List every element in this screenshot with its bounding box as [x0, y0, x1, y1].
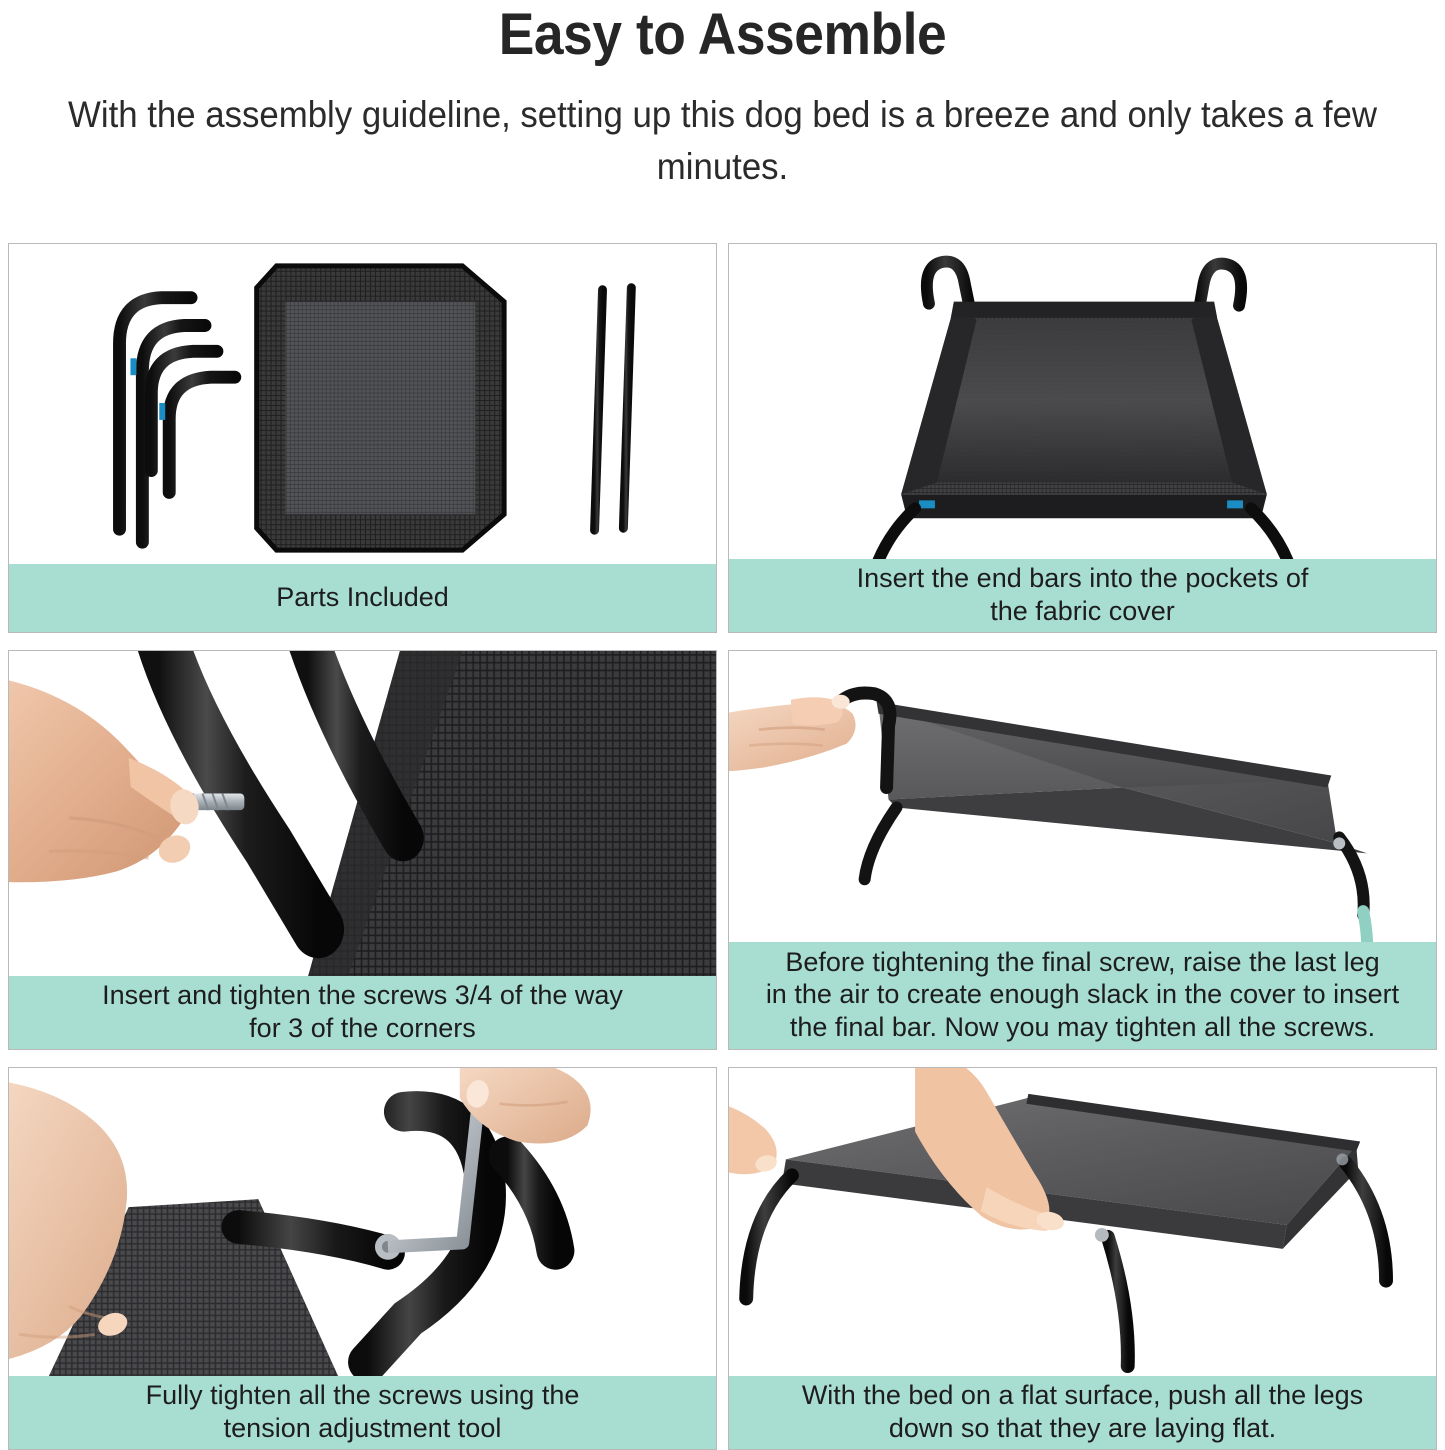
- step-panel-parts-included: Parts Included: [8, 243, 717, 633]
- hand-raising-leg: [729, 695, 856, 772]
- step-art-push-legs-flat: [729, 1068, 1436, 1376]
- step-cell-insert-end-bars: Insert the end bars into the pockets of …: [728, 243, 1437, 633]
- leg-label-blue-1: [130, 358, 136, 375]
- header: Easy to Assemble With the assembly guide…: [0, 0, 1445, 194]
- caption-line-1: Before tightening the final screw, raise…: [766, 946, 1399, 978]
- caption-line-1: Insert and tighten the screws 3/4 of the…: [102, 979, 623, 1011]
- leg-label-blue-2: [159, 403, 165, 420]
- step-caption-tighten-three-corners: Insert and tighten the screws 3/4 of the…: [9, 976, 716, 1049]
- frame-label-blue-left: [919, 500, 935, 508]
- step-caption-insert-end-bars: Insert the end bars into the pockets of …: [729, 559, 1436, 632]
- fabric-cover: [257, 266, 504, 550]
- frame-label-blue-right: [1227, 500, 1243, 508]
- step-art-fully-tighten-screws: [9, 1068, 716, 1376]
- step-panel-tighten-three-corners: Insert and tighten the screws 3/4 of the…: [8, 650, 717, 1050]
- step-cell-tighten-three-corners: Insert and tighten the screws 3/4 of the…: [8, 650, 717, 1050]
- page-subtitle: With the assembly guideline, setting up …: [43, 89, 1401, 194]
- step-cell-parts-included: Parts Included: [8, 243, 717, 633]
- caption-line-2: the fabric cover: [857, 595, 1309, 627]
- subtitle-line-1: With the assembly guideline, setting up …: [68, 94, 905, 135]
- caption-line-2: for 3 of the corners: [102, 1012, 623, 1044]
- step-panel-insert-end-bars: Insert the end bars into the pockets of …: [728, 243, 1437, 633]
- legs-group: [120, 298, 235, 542]
- step-cell-raise-last-leg: Before tightening the final screw, raise…: [728, 650, 1437, 1050]
- step-art-tighten-three-corners: [9, 651, 716, 976]
- step-caption-push-legs-flat: With the bed on a flat surface, push all…: [729, 1376, 1436, 1449]
- step-caption-parts-included: Parts Included: [9, 564, 716, 632]
- end-bars-group: [595, 288, 632, 530]
- step-art-parts-included: [9, 244, 716, 564]
- steps-grid: Parts Included: [8, 243, 1437, 1450]
- caption-line-1: Parts Included: [276, 581, 449, 613]
- page-title: Easy to Assemble: [58, 4, 1387, 67]
- step-art-insert-end-bars: [729, 244, 1436, 559]
- caption-line-1: Insert the end bars into the pockets of: [857, 562, 1309, 594]
- step-panel-push-legs-flat: With the bed on a flat surface, push all…: [728, 1067, 1437, 1450]
- caption-line-3: the final bar. Now you may tighten all t…: [766, 1011, 1399, 1043]
- caption-line-2: tension adjustment tool: [146, 1412, 580, 1444]
- step-panel-raise-last-leg: Before tightening the final screw, raise…: [728, 650, 1437, 1050]
- step-art-raise-last-leg: [729, 651, 1436, 942]
- hand-gripping-edge: [729, 1098, 779, 1174]
- step-cell-fully-tighten-screws: Fully tighten all the screws using the t…: [8, 1067, 717, 1450]
- caption-line-1: With the bed on a flat surface, push all…: [802, 1379, 1363, 1411]
- assembly-infographic: Easy to Assemble With the assembly guide…: [0, 0, 1445, 1433]
- step-caption-raise-last-leg: Before tightening the final screw, raise…: [729, 942, 1436, 1049]
- hand-pressing-mesh: [9, 1078, 131, 1366]
- step-panel-fully-tighten-screws: Fully tighten all the screws using the t…: [8, 1067, 717, 1450]
- caption-line-1: Fully tighten all the screws using the: [146, 1379, 580, 1411]
- caption-line-2: in the air to create enough slack in the…: [766, 978, 1399, 1010]
- step-caption-fully-tighten-screws: Fully tighten all the screws using the t…: [9, 1376, 716, 1449]
- caption-line-2: down so that they are laying flat.: [802, 1412, 1363, 1444]
- step-cell-push-legs-flat: With the bed on a flat surface, push all…: [728, 1067, 1437, 1450]
